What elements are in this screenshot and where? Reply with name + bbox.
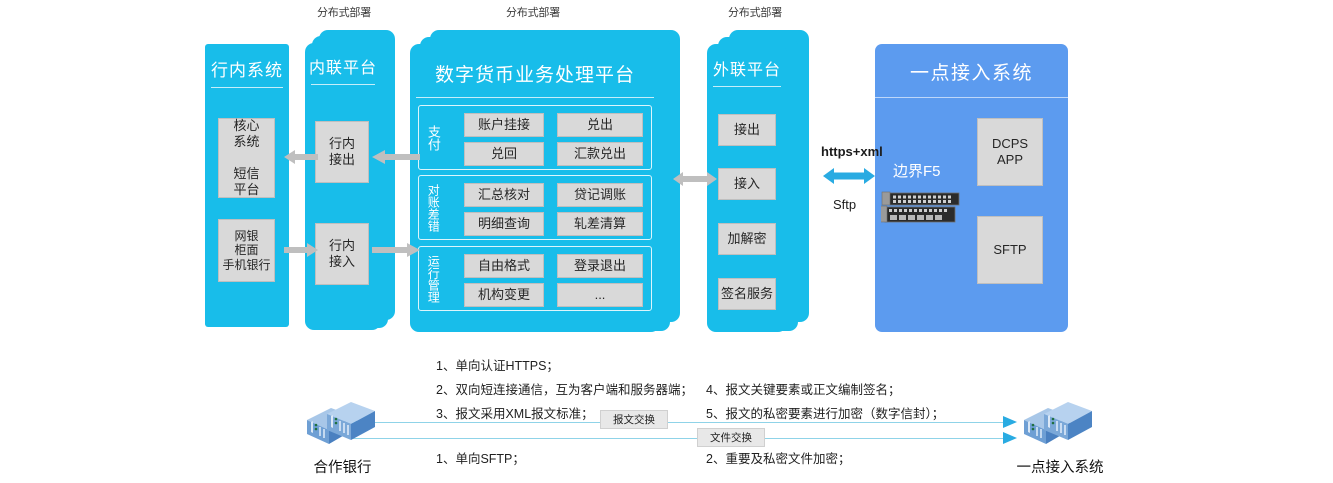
- note-file-right-2: 2、重要及私密文件加密；: [706, 448, 850, 467]
- box-core-system[interactable]: 核心 系统 短信 平台: [218, 118, 275, 198]
- box-free-format[interactable]: 自由格式: [464, 254, 544, 278]
- divider: [311, 84, 375, 85]
- label-https-xml: https+xml: [821, 144, 883, 159]
- box-ext-inbound[interactable]: 接入: [718, 168, 776, 200]
- tag-file-exchange[interactable]: 文件交换: [697, 428, 765, 447]
- box-login-logout[interactable]: 登录退出: [557, 254, 643, 278]
- group-label-operations: 运行管理: [424, 249, 442, 308]
- deploy-label-intranet: 分布式部署: [317, 4, 371, 20]
- box-netting-settlement[interactable]: 轧差清算: [557, 212, 643, 236]
- arrow-left-core-system: [284, 150, 318, 164]
- divider: [875, 97, 1068, 98]
- divider: [713, 86, 781, 87]
- intranet-platform-title: 内联平台: [305, 54, 381, 78]
- architecture-diagram: 分布式部署 分布式部署 分布式部署 行内系统 核心 系统 短信 平台 网银 柜面…: [0, 0, 1333, 483]
- note-msg-left-3: 3、报文采用XML报文标准；: [436, 403, 594, 422]
- note-msg-right-5: 5、报文的私密要素进行加密（数字信封）；: [706, 403, 944, 422]
- box-more[interactable]: ...: [557, 283, 643, 307]
- arrow-left-intranet-platform: [372, 150, 420, 164]
- extranet-platform-title: 外联平台: [707, 56, 787, 80]
- group-label-reconciliation: 对账差错: [424, 178, 442, 237]
- box-summary-check[interactable]: 汇总核对: [464, 183, 544, 207]
- divider: [416, 97, 654, 98]
- arrow-right-dc-platform: [372, 243, 420, 257]
- dc-platform-title: 数字货币业务处理平台: [410, 60, 660, 87]
- box-intra-inbound[interactable]: 行内 接入: [315, 223, 369, 285]
- box-ebank-counter-mobile[interactable]: 网银 柜面 手机银行: [218, 219, 275, 282]
- note-msg-right-4: 4、报文关键要素或正文编制签名；: [706, 379, 900, 398]
- box-ext-outbound[interactable]: 接出: [718, 114, 776, 146]
- line-message-exchange: [352, 422, 1012, 423]
- arrow-double-https-sftp: [823, 167, 875, 185]
- arrow-right-intra-inbound: [284, 243, 318, 257]
- box-encrypt-decrypt[interactable]: 加解密: [718, 223, 776, 255]
- deploy-label-extranet: 分布式部署: [728, 4, 782, 20]
- network-switch-icon: [881, 190, 963, 226]
- label-sftp: Sftp: [833, 197, 856, 212]
- box-intra-outbound[interactable]: 行内 接出: [315, 121, 369, 183]
- box-dcps-app[interactable]: DCPS APP: [977, 118, 1043, 186]
- box-detail-query[interactable]: 明细查询: [464, 212, 544, 236]
- box-account-link[interactable]: 账户挂接: [464, 113, 544, 137]
- note-file-left-1: 1、单向SFTP；: [436, 448, 525, 467]
- box-sftp[interactable]: SFTP: [977, 216, 1043, 284]
- box-exchange-out[interactable]: 兑出: [557, 113, 643, 137]
- label-boundary-f5: 边界F5: [893, 160, 941, 181]
- server-icon-access-system: [1014, 400, 1102, 450]
- note-msg-left-2: 2、双向短连接通信，互为客户端和服务器端；: [436, 379, 693, 398]
- group-label-payment: 支付: [424, 110, 442, 165]
- box-single-point-access-system[interactable]: 一点接入系统: [875, 44, 1068, 332]
- box-remittance-out[interactable]: 汇款兑出: [557, 142, 643, 166]
- box-exchange-back[interactable]: 兑回: [464, 142, 544, 166]
- box-org-change[interactable]: 机构变更: [464, 283, 544, 307]
- label-partner-bank: 合作银行: [300, 456, 385, 477]
- access-system-title: 一点接入系统: [875, 58, 1068, 85]
- line-file-exchange: [352, 438, 1012, 439]
- box-credit-adjust[interactable]: 贷记调账: [557, 183, 643, 207]
- arrow-double-dc-extranet: [673, 171, 717, 187]
- divider: [211, 87, 283, 88]
- intra-bank-title: 行内系统: [205, 56, 289, 81]
- label-access-system-bottom: 一点接入系统: [1000, 456, 1120, 477]
- box-signature-service[interactable]: 签名服务: [718, 278, 776, 310]
- server-icon-partner-bank: [297, 400, 385, 450]
- card-intranet-platform[interactable]: 内联平台: [305, 43, 381, 330]
- tag-message-exchange[interactable]: 报文交换: [600, 410, 668, 429]
- deploy-label-dc-platform: 分布式部署: [506, 4, 560, 20]
- note-msg-left-1: 1、单向认证HTTPS；: [436, 355, 559, 374]
